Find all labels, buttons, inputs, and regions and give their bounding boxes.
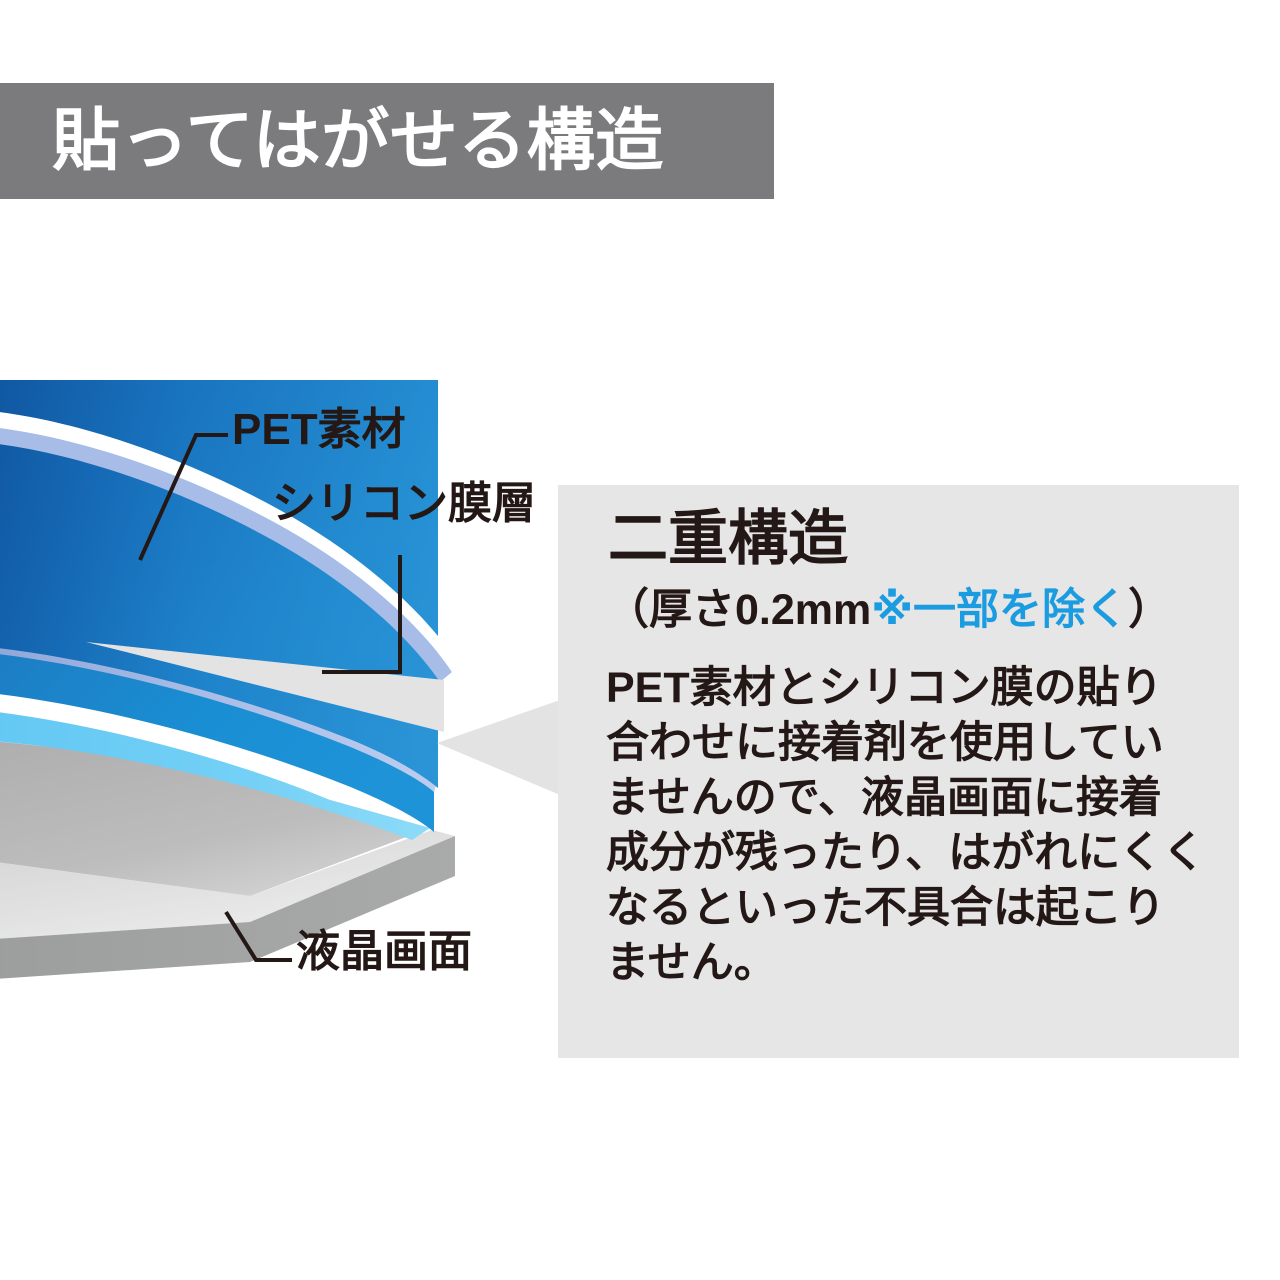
label-lcd-screen: 液晶画面 — [296, 930, 472, 974]
page-title: 貼ってはがせる構造 — [52, 107, 664, 175]
panel-heading: 二重構造 — [608, 509, 848, 569]
body-line: 合わせに接着剤を使用してい — [606, 716, 1206, 771]
panel-subheading: （厚さ0.2mm※一部を除く） — [606, 585, 1171, 637]
header-banner: 貼ってはがせる構造 — [0, 83, 774, 199]
body-line: 成分が残ったり、はがれにくく — [606, 826, 1206, 881]
body-line: ませんので、液晶画面に接着 — [606, 771, 1206, 826]
subheading-prefix: （厚さ0.2mm — [606, 586, 871, 634]
subheading-suffix: ） — [1128, 586, 1171, 634]
body-line: なるといった不具合は起こり — [606, 881, 1206, 936]
label-pet-material: PET素材 — [232, 408, 406, 452]
info-panel: 二重構造 （厚さ0.2mm※一部を除く） PET素材とシリコン膜の貼り 合わせに… — [558, 485, 1239, 1058]
subheading-accent: ※一部を除く — [871, 586, 1128, 634]
body-line: ません。 — [606, 936, 1206, 991]
panel-body-text: PET素材とシリコン膜の貼り 合わせに接着剤を使用してい ませんので、液晶画面に… — [606, 661, 1206, 991]
label-silicone-film: シリコン膜層 — [272, 482, 536, 526]
body-line: PET素材とシリコン膜の貼り — [606, 661, 1206, 716]
